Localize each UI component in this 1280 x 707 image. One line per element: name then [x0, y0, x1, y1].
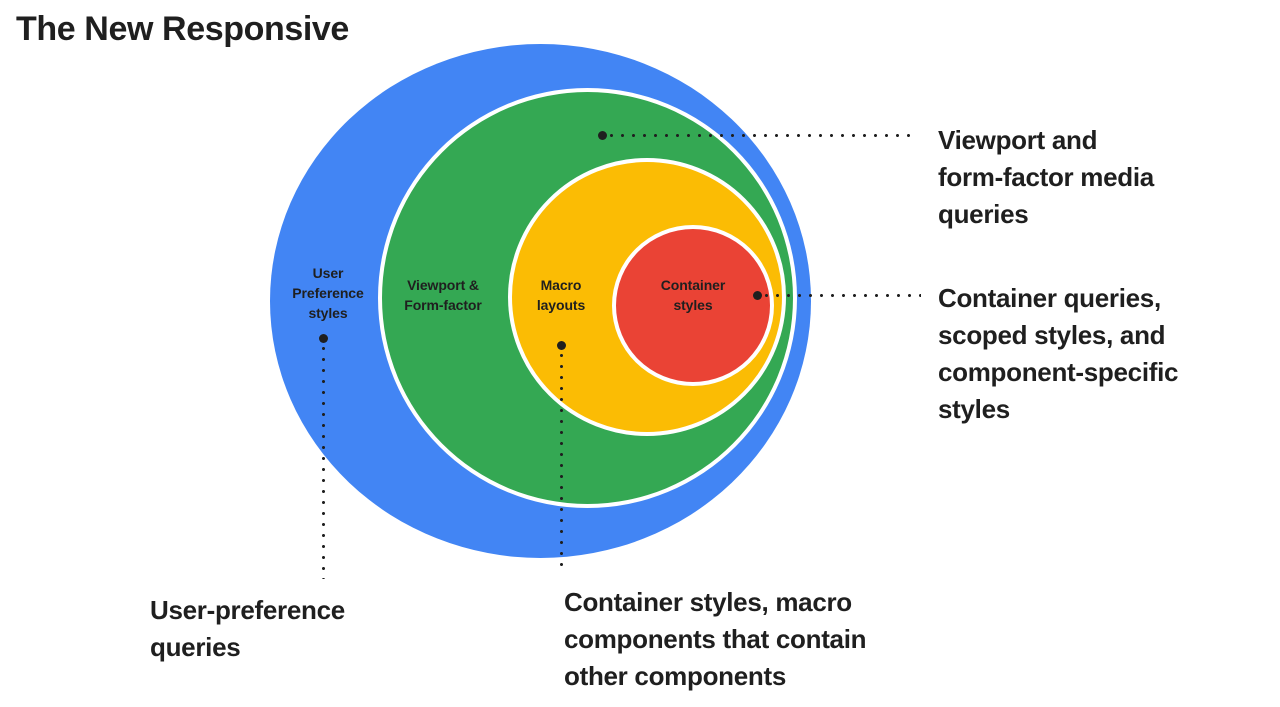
ring-label-user-preference-styles: User Preference styles — [276, 264, 380, 324]
nested-circles-diagram: User Preference styles Viewport & Form-f… — [0, 0, 1280, 707]
callout-container-queries: Container queries, scoped styles, and co… — [938, 280, 1274, 428]
ring-label-viewport-form-factor: Viewport & Form-factor — [382, 276, 504, 316]
leader-line-macro-layouts — [560, 350, 563, 572]
ring-label-container-styles: Container styles — [620, 276, 766, 316]
leader-dot-macro-layouts — [557, 341, 566, 350]
callout-container-styles-macro: Container styles, macro components that … — [564, 584, 994, 695]
leader-line-viewport — [606, 134, 918, 137]
leader-dot-user-preference — [319, 334, 328, 343]
callout-viewport-media-queries: Viewport and form-factor media queries — [938, 122, 1268, 233]
slide-canvas: The New Responsive User Preference style… — [0, 0, 1280, 707]
ring-label-macro-layouts: Macro layouts — [514, 276, 608, 316]
leader-line-container — [761, 294, 921, 297]
leader-line-user-preference — [322, 343, 325, 579]
callout-user-preference-queries: User-preference queries — [150, 592, 450, 666]
